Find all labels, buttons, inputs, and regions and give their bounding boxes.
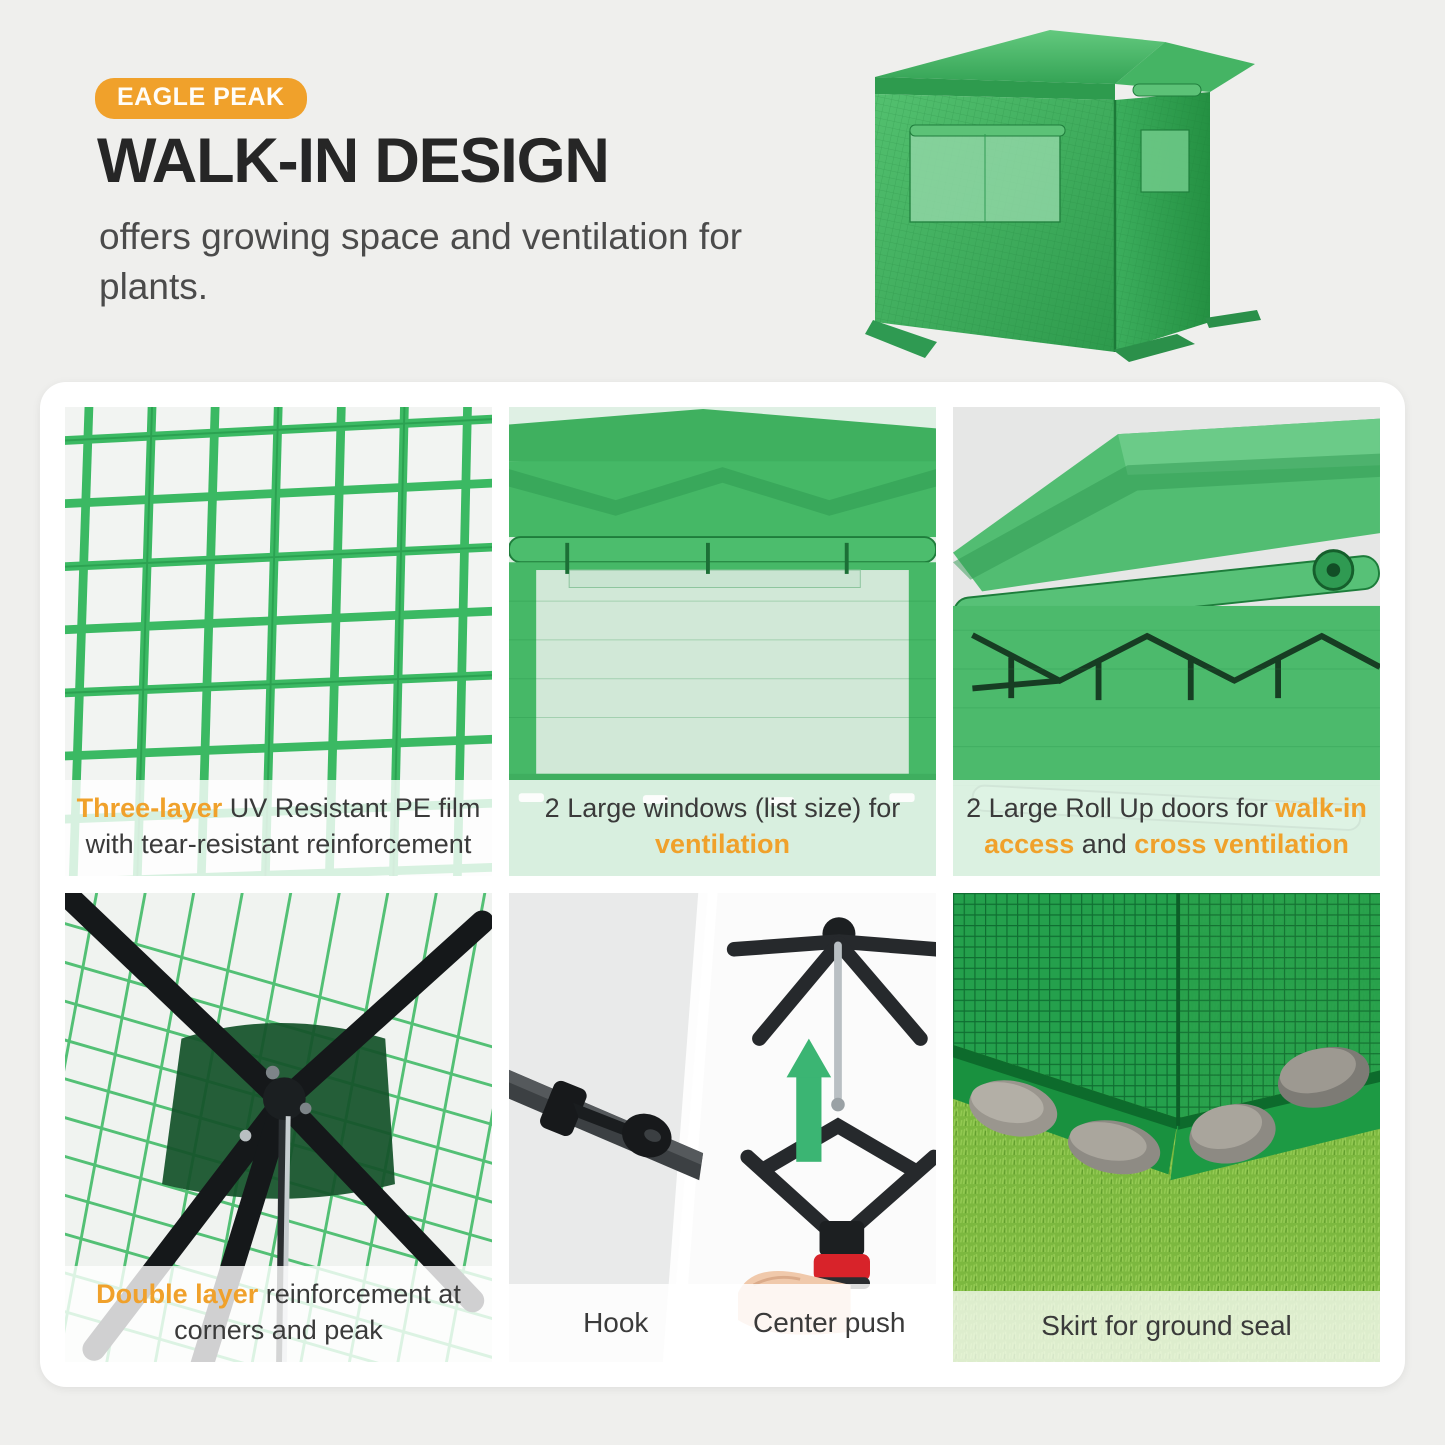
caption-text: 2 Large windows (list size) for (545, 793, 901, 823)
caption-highlight: ventilation (655, 829, 790, 859)
panel-caption: 2 Large windows (list size) for ventilat… (509, 780, 936, 876)
feature-card: Three-layer UV Resistant PE film with te… (40, 382, 1405, 1387)
panel-caption: 2 Large Roll Up doors for walk-in access… (953, 780, 1380, 876)
panel-rollup-doors: 2 Large Roll Up doors for walk-in access… (953, 407, 1380, 876)
panel-caption-split: Hook Center push (509, 1284, 936, 1362)
panel-large-windows: 2 Large windows (list size) for ventilat… (509, 407, 936, 876)
caption-highlight: Three-layer (77, 793, 223, 823)
page-subtitle: offers growing space and ventilation for… (99, 212, 799, 311)
panel-three-layer-film: Three-layer UV Resistant PE film with te… (65, 407, 492, 876)
panel-double-layer: Double layer reinforcement at corners an… (65, 893, 492, 1362)
panel-caption: Skirt for ground seal (953, 1291, 1380, 1362)
caption-text: 2 Large Roll Up doors for (966, 793, 1275, 823)
panel-caption: Three-layer UV Resistant PE film with te… (65, 780, 492, 876)
feature-grid: Three-layer UV Resistant PE film with te… (65, 407, 1380, 1362)
caption-highlight-2: cross ventilation (1134, 829, 1349, 859)
header: EAGLE PEAK WALK-IN DESIGN offers growing… (0, 0, 1445, 382)
caption-text-2: and (1074, 829, 1134, 859)
caption-text: Skirt for ground seal (1041, 1310, 1292, 1341)
caption-center-push: Center push (723, 1284, 937, 1362)
panel-hook-center-push: Hook Center push (509, 893, 936, 1362)
caption-hook: Hook (509, 1284, 723, 1362)
panel-skirt-ground-seal: Skirt for ground seal (953, 893, 1380, 1362)
panel-caption: Double layer reinforcement at corners an… (65, 1266, 492, 1362)
brand-badge: EAGLE PEAK (95, 78, 307, 119)
page-title: WALK-IN DESIGN (97, 128, 609, 194)
hero-greenhouse-image (865, 22, 1265, 382)
caption-highlight: Double layer (96, 1279, 258, 1309)
